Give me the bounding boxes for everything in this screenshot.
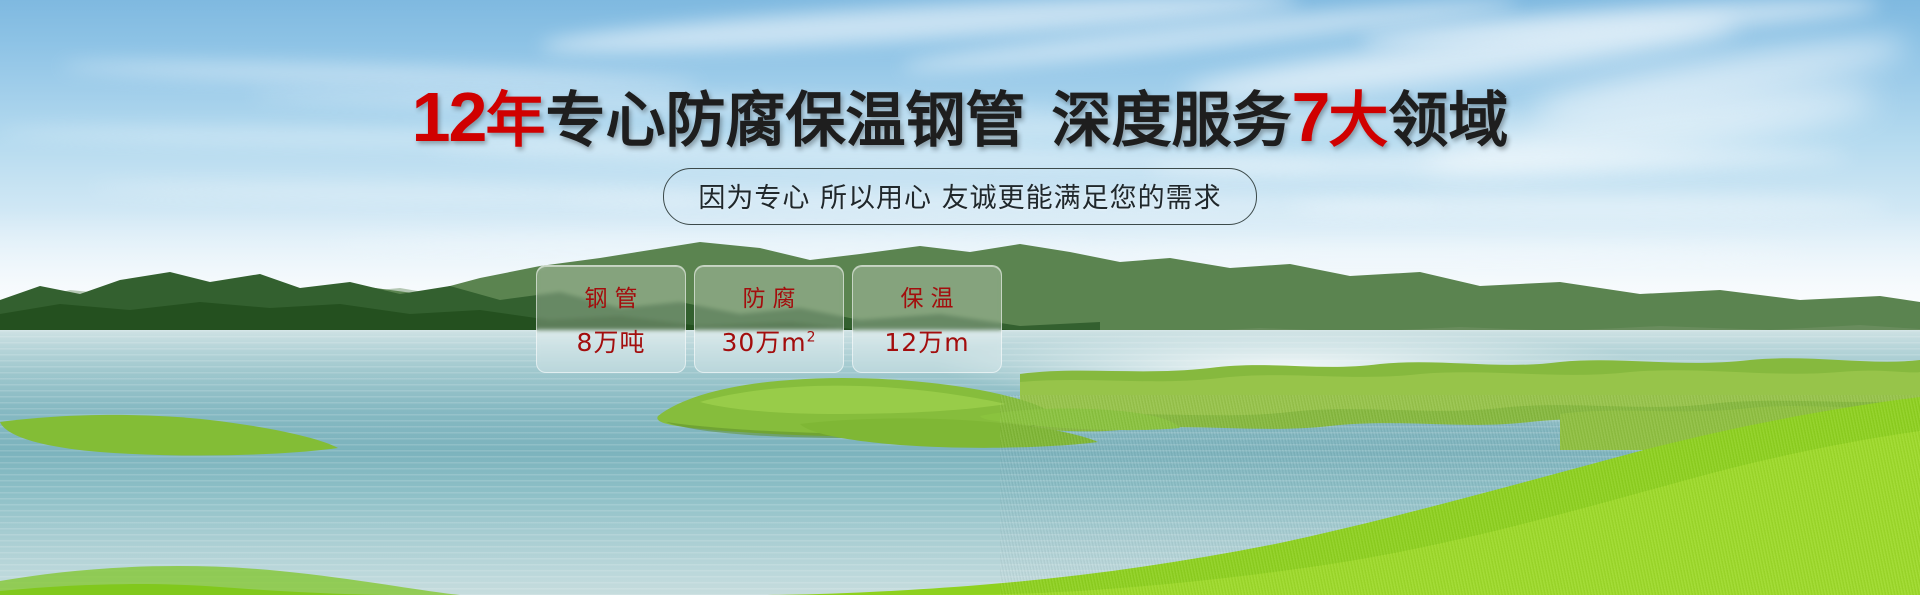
subtitle-pill: 因为专心 所以用心 友诚更能满足您的需求	[663, 168, 1256, 225]
stat-value-text: 30万m	[721, 328, 806, 357]
left-grass-bank	[0, 404, 340, 474]
stat-card-anticorrosion[interactable]: 防腐 30万m2	[694, 265, 844, 373]
subtitle-container: 因为专心 所以用心 友诚更能满足您的需求	[0, 168, 1920, 225]
stat-card-label: 钢管	[578, 279, 645, 313]
headline-years-number: 12	[412, 78, 486, 156]
promo-banner: 12年专心防腐保温钢管深度服务7大领域 因为专心 所以用心 友诚更能满足您的需求…	[0, 0, 1920, 595]
stat-card-insulation[interactable]: 保温 12万m	[852, 265, 1002, 373]
headline-main: 专心防腐保温钢管	[545, 86, 1025, 156]
headline-fields-number: 7	[1291, 78, 1328, 156]
stat-value-superscript: 2	[807, 330, 817, 346]
stat-card-steel-pipe[interactable]: 钢管 8万吨	[536, 265, 686, 373]
headline-fields-suffix: 领域	[1388, 86, 1508, 156]
page-title: 12年专心防腐保温钢管深度服务7大领域	[0, 82, 1920, 152]
stat-card-label: 保温	[894, 279, 961, 313]
stat-card-label: 防腐	[736, 279, 803, 313]
headline-service: 深度服务	[1051, 86, 1291, 156]
headline-fields-unit: 大	[1328, 86, 1388, 156]
stat-card-group: 钢管 8万吨 防腐 30万m2 保温 12万m	[536, 265, 1002, 373]
stat-value-text: 12万m	[884, 328, 969, 357]
stat-card-value: 30万m2	[721, 323, 816, 359]
stat-card-value: 8万吨	[577, 323, 646, 359]
stat-card-value: 12万m	[884, 323, 969, 359]
stat-value-text: 8万吨	[577, 328, 646, 357]
headline-years-unit: 年	[485, 86, 545, 156]
